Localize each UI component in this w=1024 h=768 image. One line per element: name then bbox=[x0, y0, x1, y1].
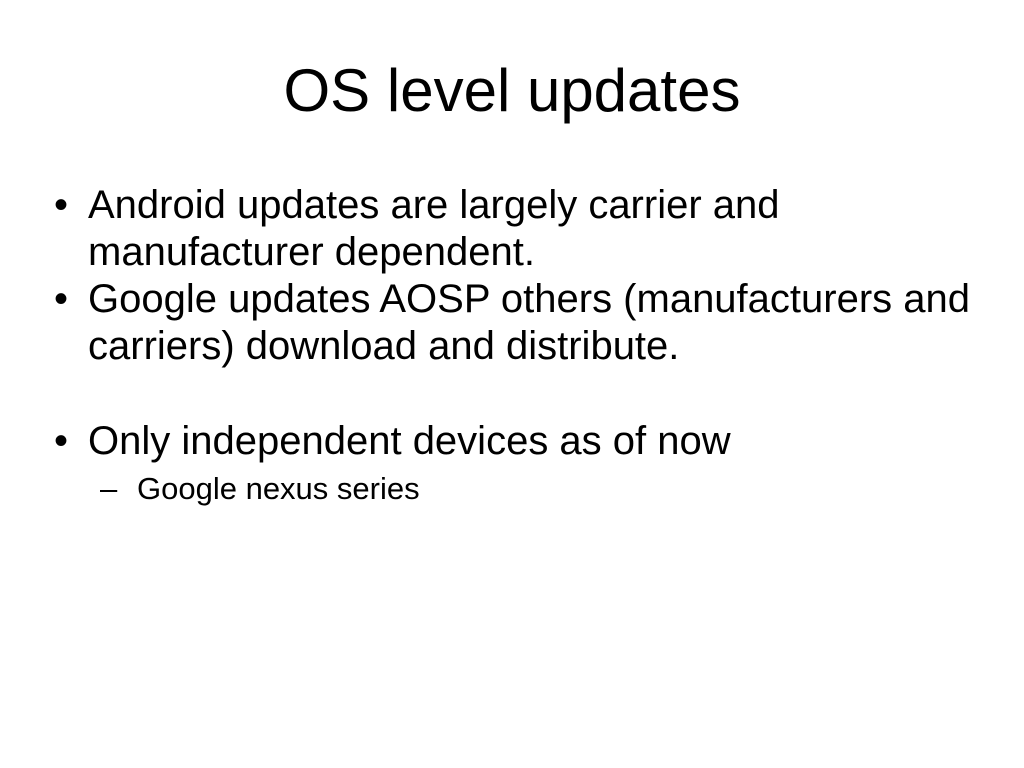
blank-bullet-line bbox=[48, 370, 978, 418]
sub-bullet-text: Google nexus series bbox=[137, 469, 978, 509]
slide-title: OS level updates bbox=[62, 57, 962, 125]
slide-body-content: • Android updates are largely carrier an… bbox=[48, 182, 978, 509]
bullet-marker-icon: • bbox=[54, 276, 80, 323]
bullet-text: Android updates are largely carrier and … bbox=[88, 182, 978, 276]
bullet-marker-icon: • bbox=[54, 418, 80, 465]
bullet-item: • Android updates are largely carrier an… bbox=[48, 182, 978, 276]
presentation-slide: OS level updates • Android updates are l… bbox=[0, 0, 1024, 768]
bullet-item: • Google updates AOSP others (manufactur… bbox=[48, 276, 978, 370]
dash-marker-icon: – bbox=[100, 469, 130, 509]
bullet-item: • Only independent devices as of now bbox=[48, 418, 978, 465]
bullet-text: Only independent devices as of now bbox=[88, 418, 978, 465]
bullet-text: Google updates AOSP others (manufacturer… bbox=[88, 276, 978, 370]
sub-bullet-item: – Google nexus series bbox=[48, 469, 978, 509]
bullet-marker-icon: • bbox=[54, 182, 80, 229]
